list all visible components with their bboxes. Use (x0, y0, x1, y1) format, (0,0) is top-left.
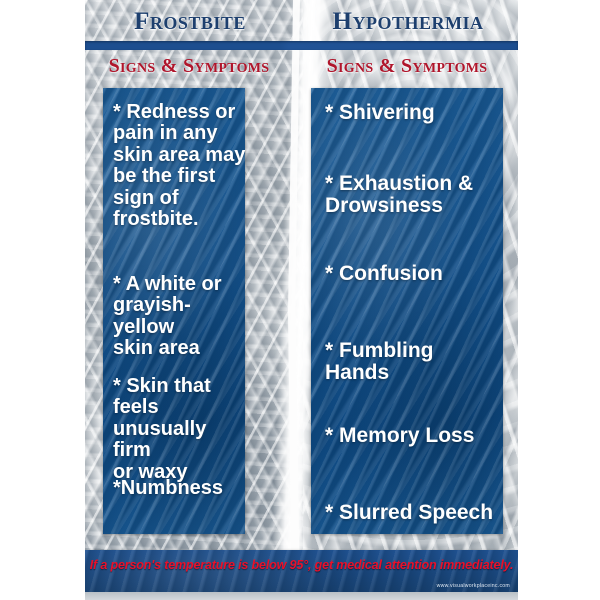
subheading-hypothermia: Signs & Symptoms (296, 55, 518, 78)
page-title-hypothermia: Hypothermia (298, 8, 518, 36)
symptom-item: * Fumbling Hands (325, 340, 507, 385)
symptom-list-hypothermia: * Shivering* Exhaustion & Drowsiness* Co… (311, 88, 503, 534)
page-title-frostbite: Frostbite (85, 8, 295, 36)
poster: Frostbite Hypothermia Signs & Symptoms S… (85, 0, 518, 600)
subheading-frostbite: Signs & Symptoms (85, 55, 293, 78)
footer-ice-strip (85, 592, 518, 600)
symptom-item: * Memory Loss (325, 425, 507, 447)
symptom-item: * Redness or pain in any skin area may b… (113, 102, 249, 230)
symptom-item: * Exhaustion & Drowsiness (325, 173, 507, 218)
symptom-item: * Confusion (325, 263, 507, 285)
title-row: Frostbite Hypothermia (85, 8, 518, 42)
website-url: www.visualworkplaceinc.com (437, 583, 510, 589)
symptom-panel-hypothermia: * Shivering* Exhaustion & Drowsiness* Co… (311, 88, 503, 534)
warning-banner-text: If a person's temperature is below 95°, … (85, 558, 518, 572)
warning-banner: If a person's temperature is below 95°, … (85, 550, 518, 592)
symptom-item: * Shivering (325, 102, 507, 124)
symptom-list-frostbite: * Redness or pain in any skin area may b… (103, 88, 245, 534)
symptom-item: * A white or grayish-yellow skin area (113, 274, 249, 360)
horizontal-rule (85, 41, 518, 50)
symptom-item: * Skin that feels unusually firm or waxy (113, 376, 249, 483)
symptom-item: * Slurred Speech (325, 502, 507, 524)
subhead-row: Signs & Symptoms Signs & Symptoms (85, 55, 518, 81)
symptom-item: *Numbness (113, 478, 249, 499)
symptom-panel-frostbite: * Redness or pain in any skin area may b… (103, 88, 245, 534)
